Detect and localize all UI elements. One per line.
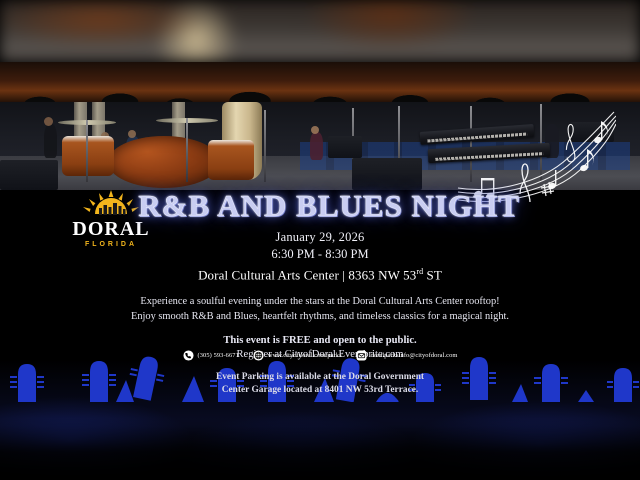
description-line-2: Enjoy smooth R&B and Blues, heartfelt rh… — [0, 309, 640, 324]
mic-stand — [86, 120, 88, 182]
mic-stand — [470, 106, 472, 182]
snare-drum — [62, 136, 114, 176]
speaker-box — [0, 160, 58, 190]
phone-icon — [183, 350, 194, 361]
parking-line-2: Center Garage located at 8401 NW 53rd Te… — [0, 384, 640, 397]
bottom-fade — [0, 418, 640, 480]
mic-stand — [264, 110, 266, 182]
email-address: doralparksinfo@cityofdoral.com — [371, 352, 458, 359]
bass-drum — [108, 136, 220, 188]
free-notice: This event is FREE and open to the publi… — [0, 335, 640, 346]
parking-line-1: Event Parking is available at the Doral … — [0, 371, 640, 384]
event-time: 6:30 PM - 8:30 PM — [0, 247, 640, 262]
speaker-box — [328, 136, 362, 158]
photo-blur-top-edge — [0, 0, 640, 62]
phone-number: (305) 593-6671 — [198, 352, 239, 359]
contact-bar: (305) 593-6671 www.cityofdoral.com/parks… — [0, 350, 640, 361]
event-flyer: DORAL FLORIDA R&B AND BLUES NIGHT Januar… — [0, 0, 640, 480]
globe-icon — [253, 350, 264, 361]
venue-separator: | — [342, 267, 345, 282]
person-silhouette — [310, 132, 323, 160]
contact-phone[interactable]: (305) 593-6671 — [183, 350, 239, 361]
venue-address-suffix: ST — [427, 267, 442, 282]
mic-stand — [186, 118, 188, 182]
stage-photo — [0, 62, 640, 190]
event-venue: Doral Cultural Arts Center | 8363 NW 53r… — [0, 267, 640, 283]
person-head — [128, 130, 136, 138]
flyer-content: R&B AND BLUES NIGHT January 29, 2026 6:3… — [0, 190, 640, 397]
speaker-box — [352, 158, 422, 190]
person-head — [44, 117, 53, 126]
contact-website[interactable]: www.cityofdoral.com/parks — [253, 350, 342, 361]
person-silhouette — [44, 124, 57, 158]
description-line-1: Experience a soulful evening under the s… — [0, 294, 640, 309]
envelope-icon — [356, 350, 367, 361]
venue-address-ordinal: rd — [416, 267, 423, 276]
parking-info: Event Parking is available at the Doral … — [0, 371, 640, 397]
event-date: January 29, 2026 — [0, 230, 640, 245]
contact-email[interactable]: doralparksinfo@cityofdoral.com — [356, 350, 458, 361]
tom-drum — [208, 140, 254, 180]
event-title: R&B AND BLUES NIGHT — [18, 190, 640, 223]
website-url: www.cityofdoral.com/parks — [268, 352, 342, 359]
venue-address: 8363 NW 53 — [348, 267, 416, 282]
speaker-box — [570, 122, 614, 142]
event-description: Experience a soulful evening under the s… — [0, 294, 640, 324]
person-head — [311, 126, 319, 134]
venue-name: Doral Cultural Arts Center — [198, 267, 339, 282]
